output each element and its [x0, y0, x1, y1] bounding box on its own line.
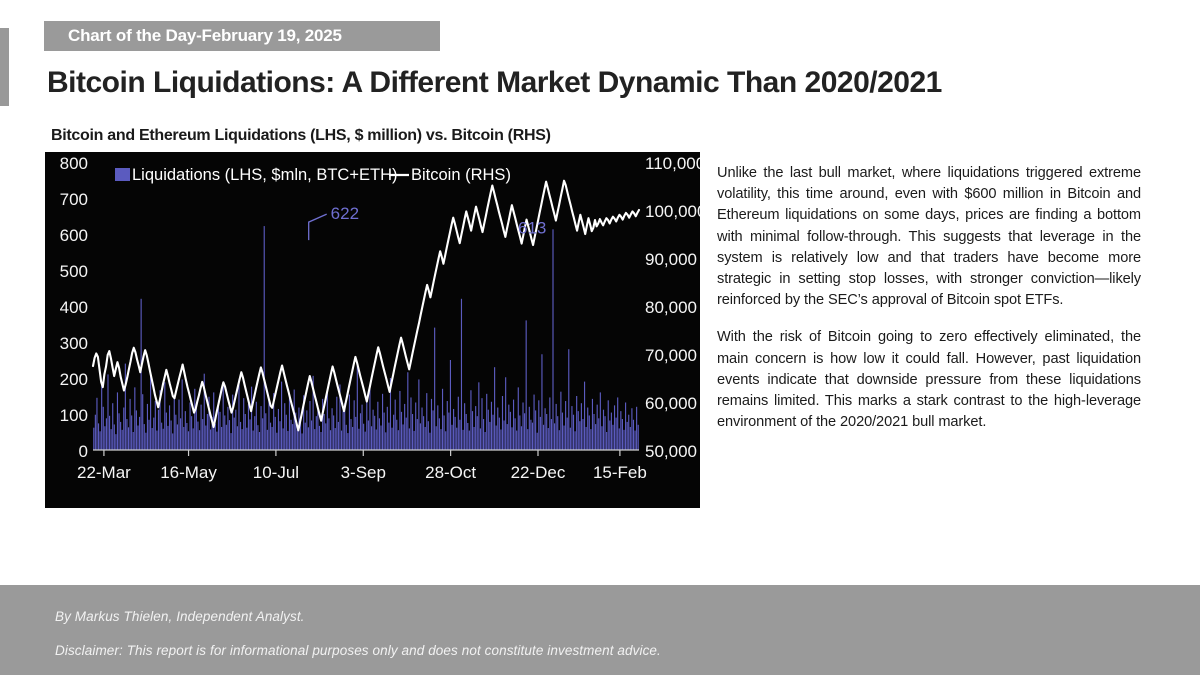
svg-text:80,000: 80,000: [645, 298, 697, 317]
svg-text:15-Feb: 15-Feb: [593, 463, 647, 482]
svg-text:300: 300: [60, 334, 88, 353]
left-edge-accent: [0, 28, 9, 106]
svg-text:0: 0: [79, 442, 88, 461]
badge-label: Chart of the Day-February 19, 2025: [44, 26, 342, 46]
bitcoin-price-line: [93, 181, 639, 431]
svg-text:600: 600: [60, 226, 88, 245]
chart-legend: Liquidations (LHS, $mln, BTC+ETH)Bitcoin…: [115, 166, 511, 184]
svg-text:700: 700: [60, 190, 88, 209]
chart-annotation: 613: [518, 218, 546, 237]
svg-text:200: 200: [60, 370, 88, 389]
svg-text:Bitcoin (RHS): Bitcoin (RHS): [411, 166, 511, 184]
svg-text:500: 500: [60, 262, 88, 281]
svg-text:60,000: 60,000: [645, 394, 697, 413]
svg-text:3-Sep: 3-Sep: [341, 463, 386, 482]
svg-text:Liquidations (LHS, $mln, BTC+E: Liquidations (LHS, $mln, BTC+ETH): [132, 166, 397, 184]
chart-of-the-day-page: Chart of the Day-February 19, 2025 Bitco…: [0, 0, 1200, 675]
svg-text:110,000: 110,000: [645, 154, 700, 173]
page-title: Bitcoin Liquidations: A Different Market…: [47, 66, 942, 100]
liquidations-bitcoin-chart: 010020030040050060070080050,00060,00070,…: [45, 152, 700, 508]
svg-text:22-Dec: 22-Dec: [511, 463, 566, 482]
svg-text:70,000: 70,000: [645, 346, 697, 365]
commentary-block: Unlike the last bull market, where liqui…: [717, 163, 1141, 433]
commentary-paragraph-2: With the risk of Bitcoin going to zero e…: [717, 327, 1141, 433]
footer-bar: By Markus Thielen, Independent Analyst. …: [0, 585, 1200, 675]
svg-text:400: 400: [60, 298, 88, 317]
svg-text:90,000: 90,000: [645, 250, 697, 269]
svg-text:100: 100: [60, 406, 88, 425]
footer-byline: By Markus Thielen, Independent Analyst.: [55, 609, 305, 624]
svg-text:50,000: 50,000: [645, 442, 697, 461]
svg-text:16-May: 16-May: [160, 463, 217, 482]
chart-of-the-day-badge: Chart of the Day-February 19, 2025: [44, 21, 440, 51]
footer-disclaimer: Disclaimer: This report is for informati…: [55, 643, 661, 658]
svg-text:100,000: 100,000: [645, 202, 700, 221]
svg-text:622: 622: [331, 204, 359, 223]
commentary-paragraph-1: Unlike the last bull market, where liqui…: [717, 163, 1141, 311]
svg-text:22-Mar: 22-Mar: [77, 463, 131, 482]
chart-annotation: 622: [309, 204, 359, 240]
svg-text:800: 800: [60, 154, 88, 173]
chart-subtitle: Bitcoin and Ethereum Liquidations (LHS, …: [51, 127, 551, 145]
svg-text:613: 613: [518, 218, 546, 237]
chart-panel: 010020030040050060070080050,00060,00070,…: [45, 152, 700, 508]
svg-text:28-Oct: 28-Oct: [425, 463, 476, 482]
liquidation-bars: [93, 226, 639, 450]
svg-text:10-Jul: 10-Jul: [253, 463, 299, 482]
